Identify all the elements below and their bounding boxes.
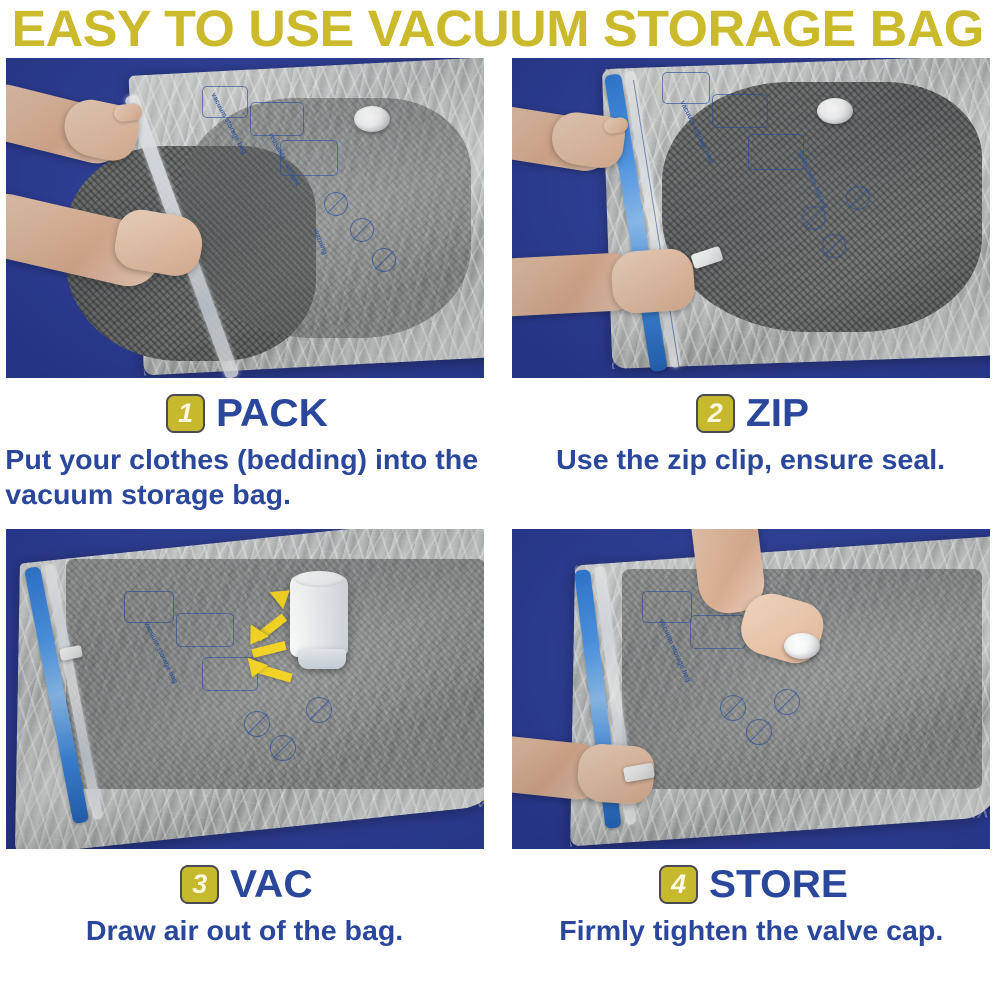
step-word: VAC	[230, 865, 313, 904]
step-heading-3: 3 VAC	[180, 865, 309, 904]
bag-warning-icon	[720, 695, 746, 721]
step-number: 1	[178, 400, 193, 427]
step-description: Use the zip clip, ensure seal.	[557, 442, 946, 477]
step-number: 4	[671, 871, 686, 898]
vacuum-pump	[290, 575, 348, 657]
bag-warning-icon	[270, 735, 296, 761]
bag-warning-icon	[802, 206, 826, 230]
step-heading-2: 2 ZIP	[696, 394, 807, 433]
step-caption-2: 2 ZIP Use the zip clip, ensure seal.	[512, 378, 990, 529]
step-cell-4: vacuum storage bag 4	[512, 529, 990, 1000]
step-caption-3: 3 VAC Draw air out of the bag.	[6, 849, 484, 1000]
step-word: PACK	[216, 394, 328, 433]
step-photo-2: vacuum storage bag Suffocation hazard	[512, 58, 990, 378]
step-description: Firmly tighten the valve cap.	[559, 913, 943, 948]
step-badge-1: 1	[166, 394, 205, 433]
towel-inside-bag	[181, 98, 471, 338]
step-description: Put your clothes (bedding) into the vacu…	[5, 442, 484, 512]
step-caption-4: 4 STORE Firmly tighten the valve cap.	[512, 849, 990, 1000]
valve-cap	[354, 106, 390, 132]
bag-print-box	[712, 94, 768, 128]
bag-print-box	[280, 140, 338, 176]
bag-warning-icon	[350, 218, 374, 242]
bag-print-box	[250, 102, 304, 136]
bag-print-box	[662, 72, 710, 104]
title-bar: EASY TO USE VACUUM STORAGE BAG	[0, 0, 996, 58]
step-badge-3: 3	[180, 865, 219, 904]
pump-base	[298, 649, 346, 669]
valve-cap	[817, 98, 853, 124]
step-badge-2: 2	[696, 394, 735, 433]
step-cell-3: vacuum storage bag	[6, 529, 484, 1000]
bag-warning-icon	[822, 234, 846, 258]
bag-warning-icon	[324, 192, 348, 216]
step-badge-4: 4	[659, 865, 698, 904]
step-description: Draw air out of the bag.	[86, 913, 403, 948]
bag-print-box	[124, 591, 174, 623]
step-heading-1: 1 PACK	[166, 394, 324, 433]
bag-warning-icon	[372, 248, 396, 272]
bag-warning-icon	[846, 186, 870, 210]
valve-cap	[784, 633, 820, 659]
step-cell-1: vacuum storage bag reusable · airtight w…	[6, 58, 484, 529]
bag-warning-icon	[746, 719, 772, 745]
page-title: EASY TO USE VACUUM STORAGE BAG	[12, 3, 984, 55]
step-cell-2: vacuum storage bag Suffocation hazard	[512, 58, 990, 529]
pump-top	[294, 571, 344, 587]
bag-print-box	[690, 615, 746, 649]
steps-grid: vacuum storage bag reusable · airtight w…	[0, 58, 996, 1000]
bag-print-box	[642, 591, 692, 623]
bag-warning-icon	[244, 711, 270, 737]
step-photo-1: vacuum storage bag reusable · airtight w…	[6, 58, 484, 378]
right-hand	[610, 247, 696, 315]
vacuum-bag-infographic: EASY TO USE VACUUM STORAGE BAG va	[0, 0, 996, 1000]
step-caption-1: 1 PACK Put your clothes (bedding) into t…	[6, 378, 484, 529]
step-number: 3	[192, 871, 207, 898]
step-heading-4: 4 STORE	[659, 865, 843, 904]
step-number: 2	[708, 400, 723, 427]
step-photo-3: vacuum storage bag	[6, 529, 484, 849]
step-word: ZIP	[746, 394, 809, 433]
bag-warning-icon	[306, 697, 332, 723]
step-word: STORE	[709, 865, 848, 904]
step-photo-4: vacuum storage bag	[512, 529, 990, 849]
bag-print-box	[202, 86, 248, 118]
bag-warning-icon	[774, 689, 800, 715]
bag-print-box	[748, 134, 804, 170]
bag-print-box	[176, 613, 234, 647]
